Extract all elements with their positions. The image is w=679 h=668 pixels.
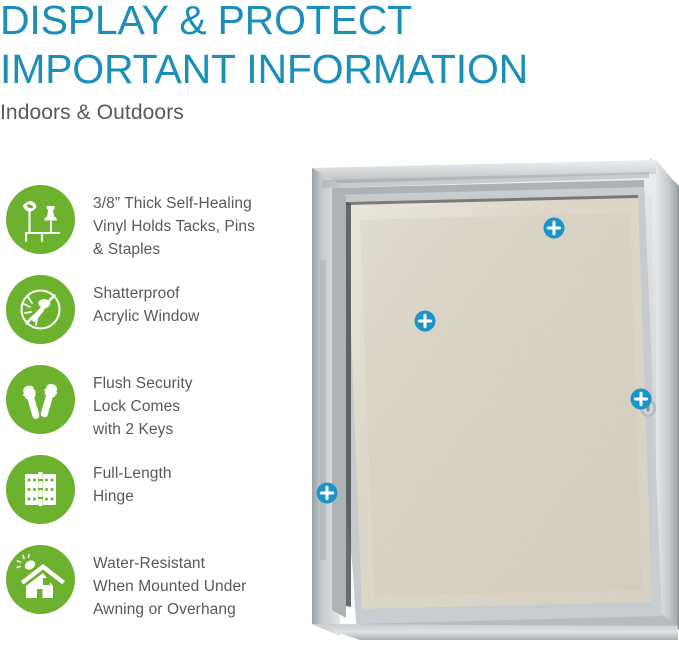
product-image-enclosed-bulletin-board [300, 140, 679, 668]
pushpin-icon [6, 185, 75, 254]
infographic-page: DISPLAY & PROTECT IMPORTANT INFORMATION … [0, 0, 679, 668]
feature-label: 3/8” Thick Self-Healing Vinyl Holds Tack… [93, 185, 255, 261]
cam-lock [640, 399, 656, 417]
feature-full-length-hinge[interactable]: Full-Length Hinge [0, 455, 172, 524]
headline-block: DISPLAY & PROTECT IMPORTANT INFORMATION … [0, 0, 640, 125]
page-title-line-1: DISPLAY & PROTECT [0, 0, 640, 45]
house-rain-icon [6, 545, 75, 614]
no-shatter-hammer-icon [6, 275, 75, 344]
feature-label: Full-Length Hinge [93, 455, 172, 508]
feature-shatterproof-acrylic[interactable]: Shatterproof Acrylic Window [0, 275, 199, 344]
keys-icon [6, 365, 75, 434]
feature-water-resistant[interactable]: Water-Resistant When Mounted Under Awnin… [0, 545, 246, 621]
page-subtitle: Indoors & Outdoors [0, 101, 640, 125]
feature-label: Flush Security Lock Comes with 2 Keys [93, 365, 193, 441]
feature-label: Shatterproof Acrylic Window [93, 275, 199, 328]
feature-label: Water-Resistant When Mounted Under Awnin… [93, 545, 246, 621]
feature-self-healing-vinyl[interactable]: 3/8” Thick Self-Healing Vinyl Holds Tack… [0, 185, 255, 261]
hinge-icon [6, 455, 75, 524]
page-title-line-2: IMPORTANT INFORMATION [0, 45, 640, 94]
hinge [320, 260, 326, 560]
feature-flush-security-lock[interactable]: Flush Security Lock Comes with 2 Keys [0, 365, 193, 441]
tackboard-surface [360, 213, 642, 596]
